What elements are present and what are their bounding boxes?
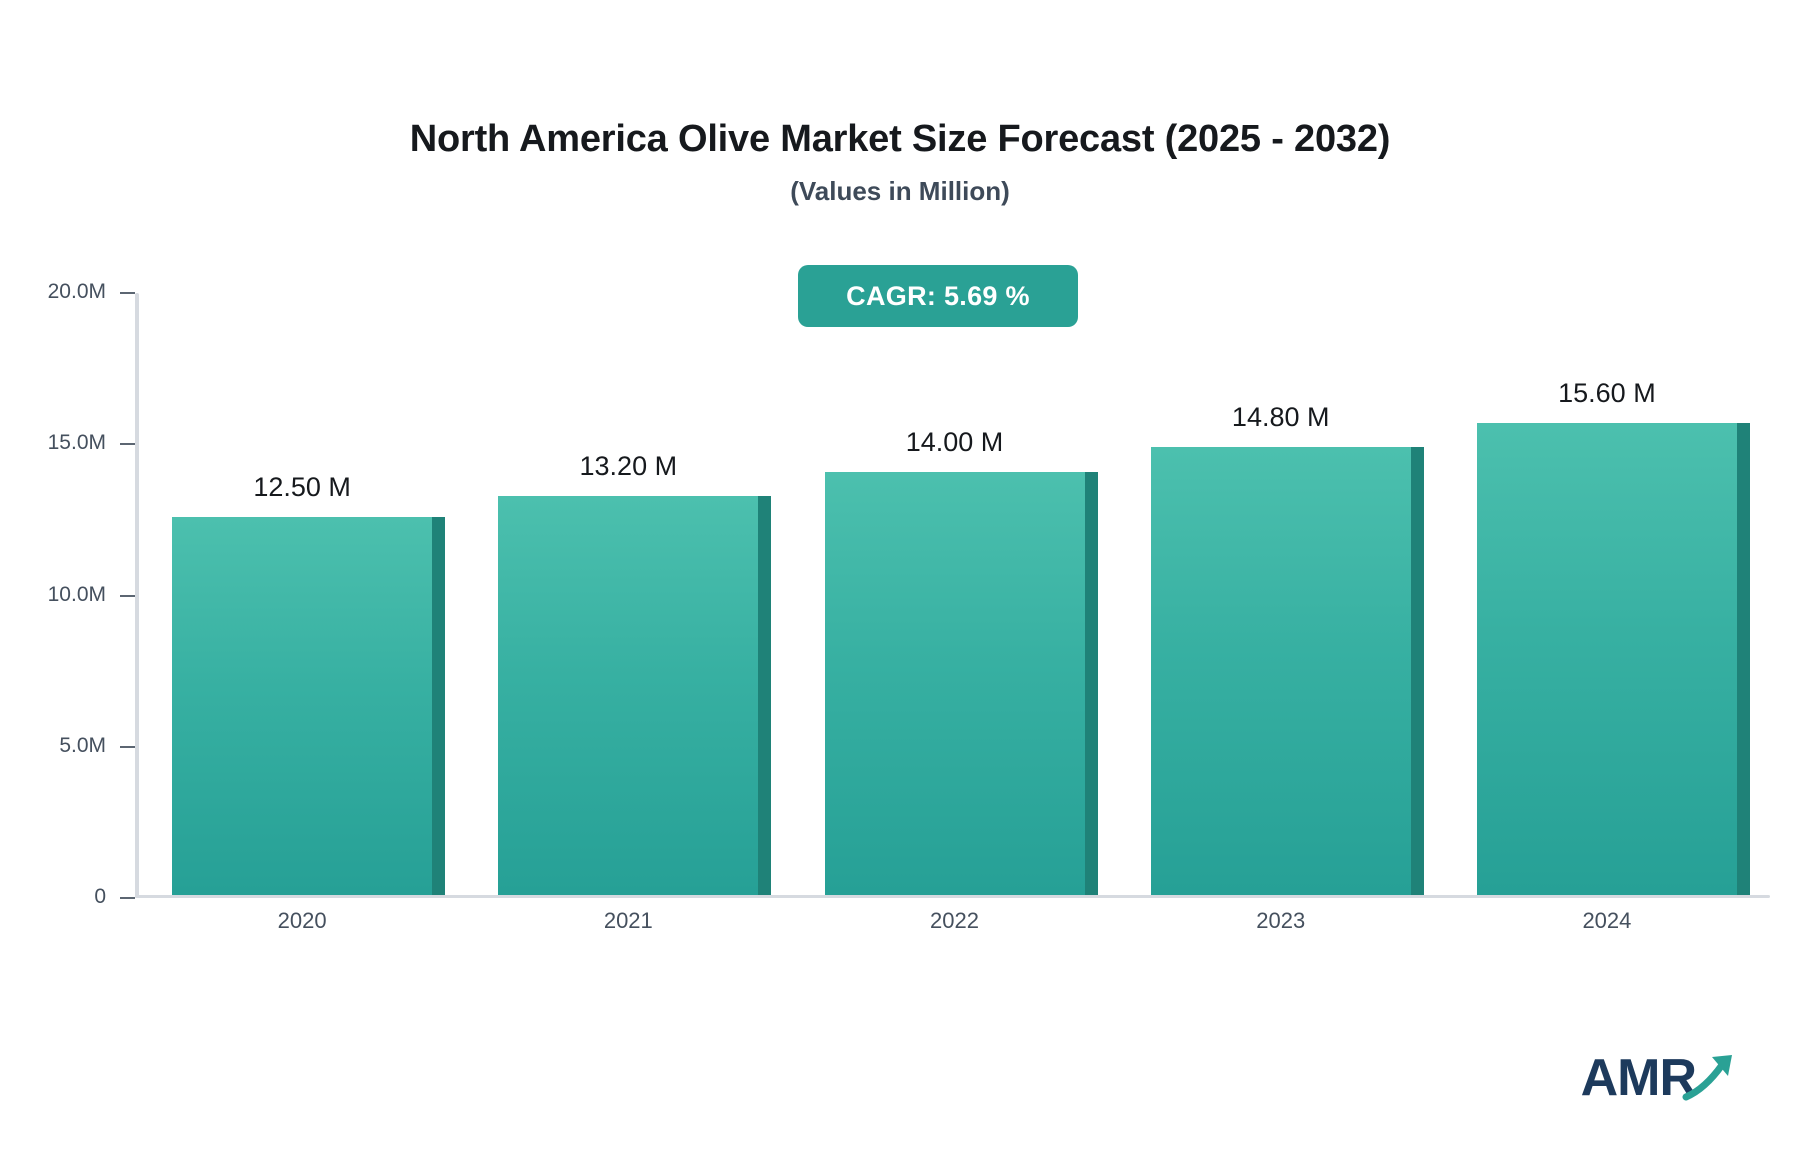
x-axis-labels: 20202021202220232024 (139, 908, 1770, 934)
bar-series: 12.50 M13.20 M14.00 M14.80 M15.60 M (139, 293, 1770, 895)
y-axis-tick-mark (120, 897, 135, 899)
y-axis-tick-label: 5.0M (59, 734, 106, 758)
bar-value-label: 14.00 M (906, 427, 1004, 458)
bar-side-face (758, 496, 771, 895)
bar-2022[interactable]: 14.00 M (825, 472, 1085, 896)
bar-value-label: 13.20 M (580, 451, 678, 482)
bar-side-face (1085, 472, 1098, 896)
bar-2023[interactable]: 14.80 M (1151, 447, 1411, 895)
bar-face (1151, 447, 1411, 895)
bar-value-label: 15.60 M (1558, 378, 1656, 409)
bar-face (825, 472, 1085, 896)
logo-text: AMR (1581, 1052, 1696, 1104)
bar-slot: 15.60 M (1444, 293, 1770, 895)
y-axis-tick-label: 10.0M (48, 583, 106, 607)
arrow-up-right-icon (1682, 1051, 1744, 1108)
bar-value-label: 14.80 M (1232, 402, 1330, 433)
bar-slot: 14.80 M (1118, 293, 1444, 895)
bar-side-face (1411, 447, 1424, 895)
chart-subtitle: (Values in Million) (0, 176, 1800, 207)
x-axis-label: 2021 (465, 908, 791, 934)
chart-canvas: North America Olive Market Size Forecast… (0, 0, 1800, 1156)
y-axis-tick-label: 0 (94, 885, 106, 909)
bar-slot: 14.00 M (791, 293, 1117, 895)
bar-2021[interactable]: 13.20 M (498, 496, 758, 895)
bar-value-label: 12.50 M (253, 472, 351, 503)
x-axis-label: 2020 (139, 908, 465, 934)
x-axis-label: 2023 (1118, 908, 1444, 934)
bar-slot: 12.50 M (139, 293, 465, 895)
bar-slot: 13.20 M (465, 293, 791, 895)
x-axis-label: 2024 (1444, 908, 1770, 934)
x-axis-line (135, 895, 1770, 898)
bar-face (498, 496, 758, 895)
bar-face (172, 517, 432, 895)
bar-2024[interactable]: 15.60 M (1477, 423, 1737, 895)
y-axis-tick-mark (120, 292, 135, 294)
bar-side-face (1737, 423, 1750, 895)
bar-side-face (432, 517, 445, 895)
y-axis-tick-mark (120, 595, 135, 597)
chart-title: North America Olive Market Size Forecast… (0, 118, 1800, 161)
x-axis-label: 2022 (791, 908, 1117, 934)
y-axis-tick-label: 15.0M (48, 431, 106, 455)
y-axis-tick-mark (120, 746, 135, 748)
y-axis-tick-mark (120, 443, 135, 445)
plot-area: 20.0M15.0M10.0M5.0M0 12.50 M13.20 M14.00… (135, 293, 1770, 898)
bar-2020[interactable]: 12.50 M (172, 517, 432, 895)
amr-logo: AMR (1581, 1051, 1744, 1104)
bar-face (1477, 423, 1737, 895)
y-axis-tick-label: 20.0M (48, 280, 106, 304)
